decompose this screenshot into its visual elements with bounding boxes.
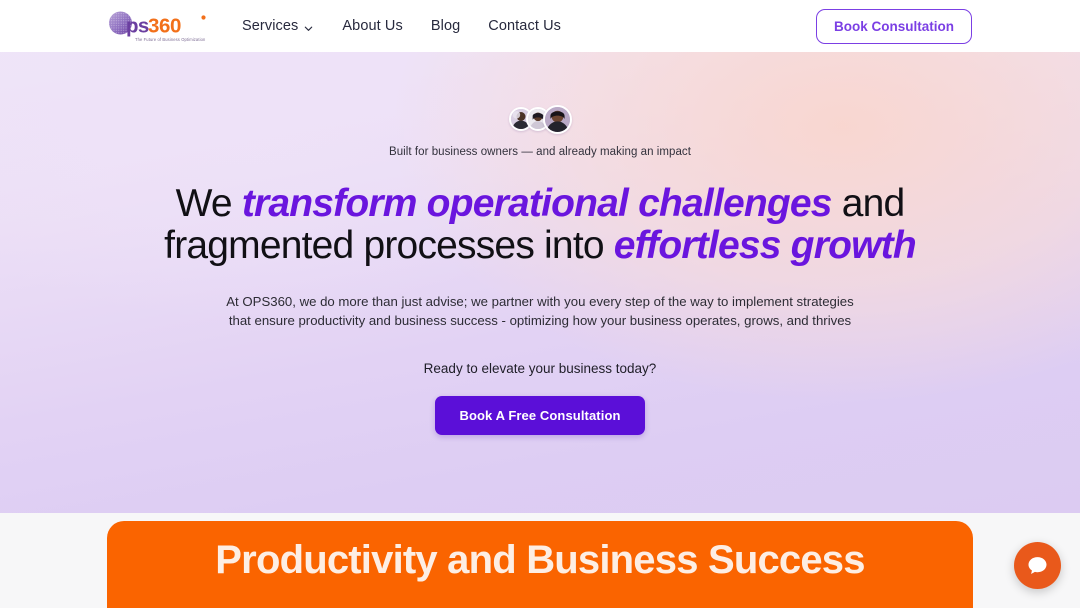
nav-item-about-us[interactable]: About Us: [342, 18, 402, 34]
svg-text:ps: ps: [126, 15, 149, 38]
nav-item-services[interactable]: Services: [242, 18, 314, 34]
productivity-success-heading: Productivity and Business Success: [107, 538, 973, 583]
hero-section: Built for business owners — and already …: [0, 52, 1080, 513]
chevron-down-icon: [303, 22, 314, 33]
productivity-success-card: Productivity and Business Success: [107, 521, 973, 608]
nav-item-services-label: Services: [242, 18, 298, 34]
svg-text:360: 360: [148, 15, 181, 38]
hero-headline-part1: We: [176, 182, 242, 225]
hero-prompt-text: Ready to elevate your business today?: [424, 361, 657, 376]
nav-item-contact-us[interactable]: Contact Us: [488, 18, 561, 34]
nav-item-blog[interactable]: Blog: [431, 18, 460, 34]
main-nav-links: Services About Us Blog Contact Us: [242, 18, 561, 34]
hero-headline: We transform operational challenges and …: [110, 183, 970, 267]
book-consultation-button[interactable]: Book Consultation: [816, 9, 972, 44]
hero-paragraph: At OPS360, we do more than just advise; …: [220, 293, 860, 330]
ops360-logo-mark: ps 360 The Future of Business Optimizati…: [108, 10, 212, 44]
chat-widget-button[interactable]: [1014, 542, 1061, 589]
book-free-consultation-button[interactable]: Book A Free Consultation: [435, 396, 644, 435]
svg-text:The Future of Business Optimiz: The Future of Business Optimization: [135, 37, 206, 42]
avatar-group: [509, 104, 572, 134]
ops360-logo[interactable]: ps 360 The Future of Business Optimizati…: [108, 10, 212, 44]
below-fold-section: Productivity and Business Success: [0, 513, 1080, 608]
hero-headline-emphasis-1: transform operational challenges: [242, 182, 832, 225]
chat-bubble-icon: [1026, 554, 1049, 577]
hero-eyebrow-text: Built for business owners — and already …: [389, 146, 691, 158]
avatar: [543, 105, 572, 134]
top-navigation-bar: ps 360 The Future of Business Optimizati…: [0, 0, 1080, 52]
hero-headline-emphasis-2: effortless growth: [614, 224, 916, 267]
